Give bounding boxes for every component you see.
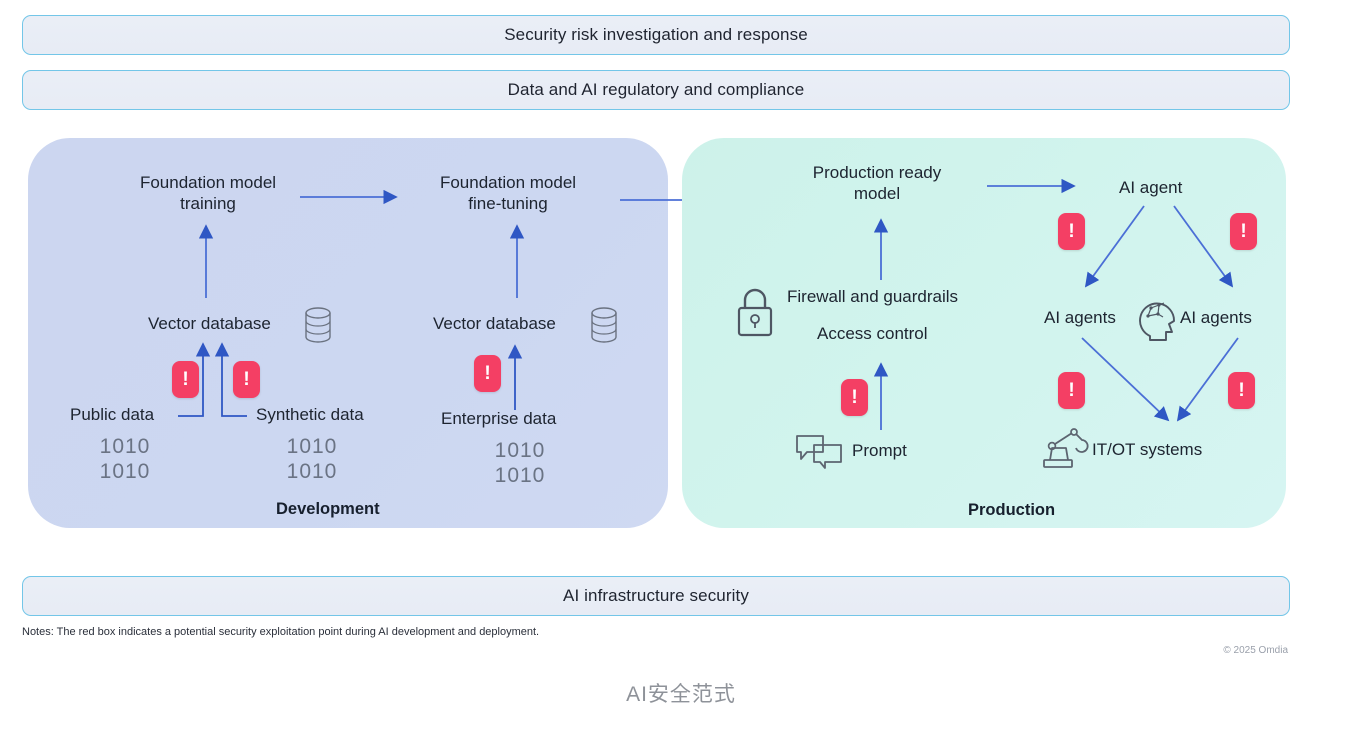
node-ai-agents-right: AI agents <box>1180 307 1252 328</box>
chat-bubbles-icon <box>795 433 845 471</box>
robot-arm-icon <box>1038 426 1090 472</box>
notes-text: Notes: The red box indicates a potential… <box>22 626 539 638</box>
node-production-ready-model: Production ready model <box>790 162 964 204</box>
node-vector-database-left: Vector database <box>148 313 271 334</box>
node-access-control: Access control <box>817 323 928 344</box>
node-enterprise-data: Enterprise data <box>441 408 556 429</box>
foundation-finetuning-label: Foundation model fine-tuning <box>440 173 576 213</box>
binary-glyph-public: 1010 1010 <box>78 434 172 484</box>
ai-head-icon <box>1136 294 1180 344</box>
warning-marker: ! <box>851 388 857 407</box>
warning-marker: ! <box>484 364 490 383</box>
warning-marker: ! <box>1068 222 1074 241</box>
warning-badge-ai-agent-right: ! <box>1230 213 1257 250</box>
ai-agents-right-label: AI agents <box>1180 308 1252 327</box>
band-infrastructure-security: AI infrastructure security <box>22 576 1290 616</box>
band-security-label: Security risk investigation and response <box>504 25 808 45</box>
node-synthetic-data: Synthetic data <box>256 404 364 425</box>
enterprise-data-label: Enterprise data <box>441 409 556 428</box>
firewall-label: Firewall and guardrails <box>787 287 958 306</box>
panel-development-label: Development <box>276 500 380 519</box>
band-infrastructure-label: AI infrastructure security <box>563 586 749 606</box>
warning-marker: ! <box>243 370 249 389</box>
warning-marker: ! <box>1240 222 1246 241</box>
lock-icon <box>733 286 777 342</box>
warning-badge-public-data: ! <box>172 361 199 398</box>
panel-production-label: Production <box>968 501 1055 520</box>
foundation-training-label: Foundation model training <box>140 173 276 213</box>
diagram-canvas: Security risk investigation and response… <box>0 0 1362 742</box>
figure-caption: AI安全范式 <box>0 678 1362 708</box>
node-ai-agent: AI agent <box>1119 177 1182 198</box>
database-icon <box>303 306 333 344</box>
node-foundation-model-finetuning: Foundation model fine-tuning <box>422 172 594 214</box>
it-ot-systems-label: IT/OT systems <box>1092 440 1202 459</box>
binary-glyph-synthetic: 1010 1010 <box>265 434 359 484</box>
node-it-ot-systems: IT/OT systems <box>1092 439 1202 460</box>
node-ai-agents-left: AI agents <box>1044 307 1116 328</box>
ai-agent-label: AI agent <box>1119 178 1182 197</box>
copyright-text: © 2025 Omdia <box>1223 645 1288 656</box>
synthetic-data-label: Synthetic data <box>256 405 364 424</box>
vector-database-left-label: Vector database <box>148 314 271 333</box>
warning-badge-it-ot-left: ! <box>1058 372 1085 409</box>
database-icon <box>589 306 619 344</box>
node-foundation-model-training: Foundation model training <box>122 172 294 214</box>
ai-agents-left-label: AI agents <box>1044 308 1116 327</box>
binary-glyph-enterprise: 1010 1010 <box>473 438 567 488</box>
node-firewall-guardrails: Firewall and guardrails <box>787 286 958 307</box>
vector-database-right-label: Vector database <box>433 314 556 333</box>
warning-marker: ! <box>1238 381 1244 400</box>
node-public-data: Public data <box>70 404 154 425</box>
warning-marker: ! <box>1068 381 1074 400</box>
node-vector-database-right: Vector database <box>433 313 556 334</box>
public-data-label: Public data <box>70 405 154 424</box>
prompt-label: Prompt <box>852 441 907 460</box>
warning-badge-ai-agent-left: ! <box>1058 213 1085 250</box>
production-ready-model-label: Production ready model <box>813 163 942 203</box>
warning-badge-it-ot-right: ! <box>1228 372 1255 409</box>
warning-badge-enterprise-data: ! <box>474 355 501 392</box>
warning-badge-synthetic-data: ! <box>233 361 260 398</box>
band-compliance-label: Data and AI regulatory and compliance <box>508 80 805 100</box>
band-regulatory-compliance: Data and AI regulatory and compliance <box>22 70 1290 110</box>
band-security-risk: Security risk investigation and response <box>22 15 1290 55</box>
access-control-label: Access control <box>817 324 928 343</box>
warning-badge-prompt: ! <box>841 379 868 416</box>
node-prompt: Prompt <box>852 440 907 461</box>
warning-marker: ! <box>182 370 188 389</box>
